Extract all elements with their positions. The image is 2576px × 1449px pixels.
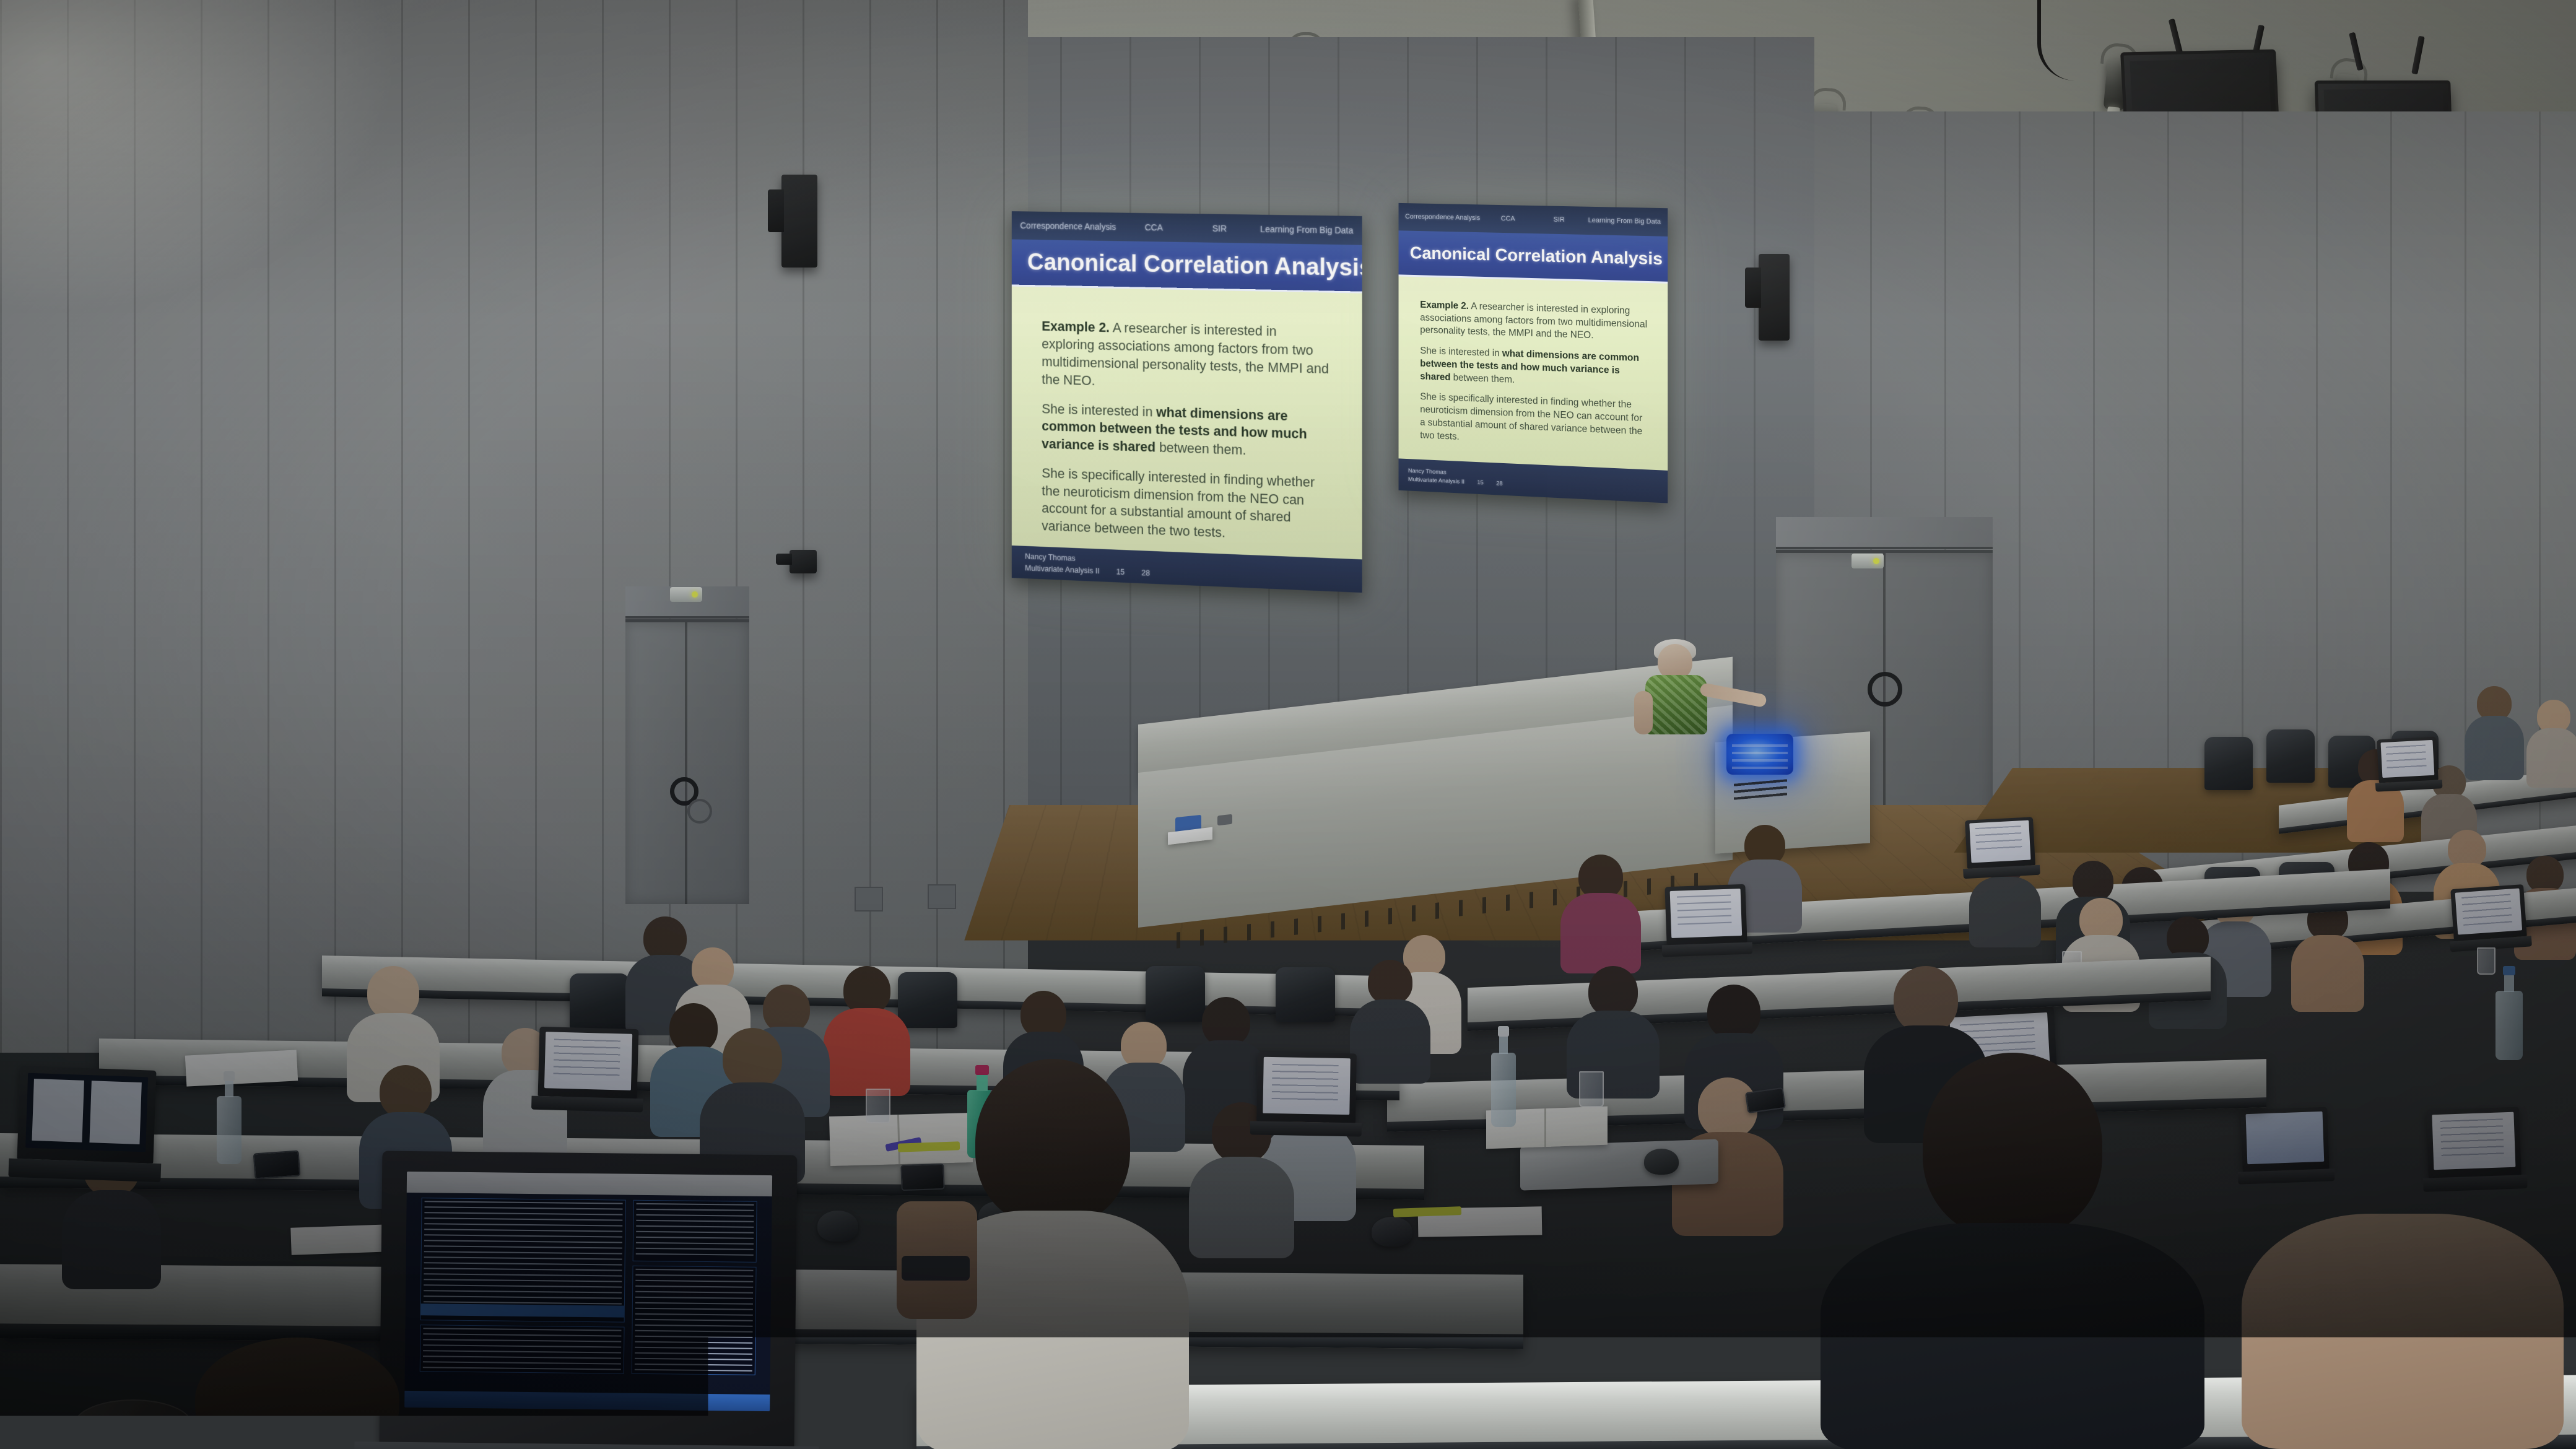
indicator-led bbox=[692, 591, 698, 598]
slide-footer-total: 28 bbox=[1141, 568, 1150, 578]
door-leaf-divider bbox=[685, 622, 687, 904]
water-bottle[interactable] bbox=[217, 1096, 241, 1164]
audience-person bbox=[1350, 960, 1430, 1084]
lecture-hall-photo: Correspondence Analysis CCA SIR Learning… bbox=[0, 0, 2576, 1449]
person-body bbox=[1350, 999, 1430, 1084]
notebook-spine bbox=[1544, 1108, 1546, 1147]
bottle-body bbox=[217, 1096, 241, 1164]
audience-laptop[interactable] bbox=[2426, 1107, 2522, 1178]
slide-header: Correspondence Analysis CCA SIR Learning… bbox=[1012, 211, 1362, 245]
slide-header-center: CCA bbox=[1145, 222, 1163, 232]
person-head bbox=[2448, 830, 2486, 868]
screen-pane-left bbox=[32, 1079, 84, 1142]
presenter bbox=[1632, 644, 1725, 743]
slide-titlebar: Canonical Correlation Analysis bbox=[1399, 230, 1668, 284]
person-body bbox=[2291, 935, 2364, 1012]
slide-paragraph-3: She is specifically interested in findin… bbox=[1420, 391, 1648, 452]
person-body bbox=[824, 1008, 910, 1096]
slide-example-label: Example 2. bbox=[1420, 300, 1469, 311]
window-light-glow bbox=[0, 0, 409, 322]
bottle-body bbox=[1491, 1053, 1516, 1127]
person-head bbox=[1923, 1053, 2102, 1238]
screen-text-lines bbox=[1975, 825, 2022, 855]
person-body bbox=[2526, 728, 2576, 788]
slide-paragraph-2: She is interested in what dimensions are… bbox=[1420, 345, 1648, 391]
slide-paragraph-1: Example 2. A researcher is interested in… bbox=[1420, 299, 1648, 345]
person-body bbox=[1969, 877, 2041, 947]
person-head bbox=[723, 1028, 782, 1089]
slide-body: Example 2. A researcher is interested in… bbox=[1012, 287, 1362, 560]
person-head bbox=[1368, 960, 1412, 1004]
wall-speaker bbox=[781, 175, 817, 268]
editor-pane-top-right bbox=[632, 1200, 757, 1263]
laptop-screen bbox=[25, 1073, 148, 1152]
notebook-spine bbox=[897, 1115, 900, 1164]
bottle-neck bbox=[225, 1080, 233, 1098]
code-lines bbox=[423, 1328, 622, 1371]
slide-header-left: Correspondence Analysis bbox=[1405, 213, 1480, 222]
laptop-screen bbox=[1669, 889, 1742, 938]
paper-sheet[interactable] bbox=[185, 1050, 298, 1086]
slide-paragraph-1: Example 2. A researcher is interested in… bbox=[1042, 318, 1334, 396]
drinking-glass[interactable] bbox=[866, 1089, 890, 1123]
laptop-screen bbox=[2432, 1112, 2515, 1170]
screen-text-lines bbox=[2386, 744, 2427, 770]
laptop-screen bbox=[1263, 1057, 1351, 1115]
wall-outlet bbox=[855, 887, 883, 912]
person-head bbox=[763, 985, 810, 1033]
door-ring-handle[interactable] bbox=[1868, 672, 1902, 707]
slide-title: Canonical Correlation Analysis bbox=[1410, 243, 1663, 269]
silver-laptop-closed[interactable] bbox=[1520, 1139, 1718, 1190]
person-head bbox=[380, 1065, 432, 1118]
laptop-screen bbox=[2246, 1112, 2324, 1164]
screen-text-lines bbox=[553, 1038, 620, 1078]
presenter-arm-left bbox=[1634, 691, 1653, 734]
slide-body: Example 2. A researcher is interested in… bbox=[1399, 276, 1668, 471]
paper-sheet[interactable] bbox=[290, 1224, 390, 1255]
audience-laptop[interactable] bbox=[2450, 884, 2527, 941]
bottle-body bbox=[2495, 991, 2523, 1060]
person-head bbox=[367, 966, 419, 1019]
wristwatch bbox=[902, 1256, 970, 1281]
audience-laptop[interactable] bbox=[2377, 737, 2439, 783]
audience-person bbox=[2291, 899, 2364, 1011]
drinking-glass[interactable] bbox=[2477, 947, 2495, 975]
foreground-person-right bbox=[1821, 1053, 2204, 1449]
audience-person bbox=[1560, 855, 1641, 972]
slide-titlebar: Canonical Correlation Analysis bbox=[1012, 239, 1362, 294]
person-head bbox=[843, 966, 890, 1014]
wall-speaker bbox=[1759, 254, 1790, 341]
audience-chair[interactable] bbox=[2204, 737, 2253, 790]
slide-example-label: Example 2. bbox=[1042, 319, 1110, 335]
slide-footer-course: Multivariate Analysis II bbox=[1025, 563, 1099, 575]
audience-chair[interactable] bbox=[570, 973, 629, 1029]
presenter-torso bbox=[1645, 675, 1707, 734]
projection-screen-right: Correspondence Analysis CCA SIR Learning… bbox=[1399, 203, 1668, 503]
editor-titlebar bbox=[407, 1172, 772, 1196]
projection-screen-left: Correspondence Analysis CCA SIR Learning… bbox=[1012, 211, 1362, 593]
door-left[interactable] bbox=[625, 619, 749, 904]
slide-right: Correspondence Analysis CCA SIR Learning… bbox=[1399, 203, 1668, 503]
panel-desk-small-object bbox=[1217, 814, 1232, 826]
bottle-neck bbox=[1499, 1035, 1508, 1054]
person-head bbox=[975, 1059, 1130, 1226]
audience-laptop[interactable] bbox=[1965, 817, 2035, 869]
emergency-light bbox=[670, 587, 702, 602]
wall-speaker-small bbox=[790, 550, 817, 573]
laptop-screen bbox=[544, 1032, 633, 1090]
audience-laptop[interactable] bbox=[2240, 1107, 2329, 1172]
bottle-neck bbox=[2504, 974, 2514, 992]
laptop-base bbox=[1662, 942, 1752, 957]
audience-laptop[interactable] bbox=[17, 1066, 156, 1164]
bottle-cap bbox=[224, 1071, 235, 1081]
slide-paragraph-2: She is interested in what dimensions are… bbox=[1042, 400, 1334, 463]
slide-left: Correspondence Analysis CCA SIR Learning… bbox=[1012, 211, 1362, 593]
laptop-screen bbox=[2455, 888, 2522, 934]
screen-text-lines bbox=[1271, 1064, 1338, 1103]
wall-outlet bbox=[928, 884, 956, 909]
person-head bbox=[1894, 966, 1958, 1033]
panel-desk bbox=[1138, 724, 1733, 935]
slide-header-center2: SIR bbox=[1212, 224, 1227, 233]
laptop-base bbox=[2423, 1175, 2528, 1192]
person-head bbox=[2073, 861, 2113, 902]
slide-title: Canonical Correlation Analysis bbox=[1027, 249, 1362, 282]
editor-selected-line bbox=[420, 1303, 624, 1317]
slide-header-center2: SIR bbox=[1554, 216, 1565, 224]
person-head bbox=[1202, 997, 1250, 1046]
code-editor-screen bbox=[404, 1172, 772, 1411]
bottle-cap bbox=[2503, 966, 2515, 976]
audience-person bbox=[824, 966, 910, 1096]
foreground-person-far-right bbox=[2242, 1214, 2564, 1449]
computer-mouse[interactable] bbox=[1644, 1149, 1679, 1175]
slide-footer-page: 15 bbox=[1116, 568, 1125, 577]
door-transom bbox=[1776, 517, 1993, 549]
person-body bbox=[2242, 1214, 2564, 1449]
person-body bbox=[1189, 1157, 1294, 1258]
water-bottle[interactable] bbox=[2495, 991, 2523, 1060]
person-body bbox=[62, 1190, 161, 1289]
slide-header-right: Learning From Big Data bbox=[1588, 217, 1661, 226]
slide-header-right: Learning From Big Data bbox=[1260, 224, 1353, 235]
slide-paragraph-3: She is specifically interested in findin… bbox=[1042, 464, 1334, 546]
person-head bbox=[2526, 856, 2564, 893]
person-head bbox=[1707, 985, 1760, 1039]
computer-mouse[interactable] bbox=[1372, 1217, 1412, 1247]
code-lines bbox=[423, 1201, 622, 1319]
screen-text-lines bbox=[1677, 894, 1732, 928]
bottle-cap bbox=[1498, 1026, 1509, 1037]
audience-chair[interactable] bbox=[2266, 729, 2315, 783]
smartphone[interactable] bbox=[253, 1150, 301, 1179]
led-glyphs bbox=[1732, 739, 1788, 769]
person-head bbox=[692, 947, 734, 990]
laptop-screen bbox=[2380, 740, 2434, 778]
led-display bbox=[1726, 734, 1793, 775]
emergency-light bbox=[1851, 554, 1884, 568]
audience-laptop[interactable] bbox=[1256, 1052, 1357, 1123]
screen-text-lines bbox=[2462, 894, 2513, 926]
computer-mouse[interactable] bbox=[817, 1211, 858, 1242]
audience-person bbox=[2526, 700, 2576, 786]
slide-header-left: Correspondence Analysis bbox=[1020, 220, 1116, 232]
person-body bbox=[1560, 893, 1641, 973]
code-lines bbox=[635, 1203, 754, 1260]
audience-chair[interactable] bbox=[1276, 967, 1335, 1022]
code-lines bbox=[635, 1269, 754, 1372]
laptop-screen bbox=[1969, 820, 2031, 863]
dark-bowl-object bbox=[74, 1399, 192, 1449]
wall-ring-fitting bbox=[687, 799, 712, 824]
slide-footer-page: 15 bbox=[1477, 479, 1483, 486]
person-head bbox=[195, 1338, 399, 1449]
slide-footer-total: 28 bbox=[1496, 480, 1502, 487]
person-body bbox=[1821, 1223, 2204, 1449]
laptop-base bbox=[2237, 1168, 2334, 1184]
person-head bbox=[1588, 966, 1638, 1017]
audience-laptop[interactable] bbox=[538, 1027, 639, 1099]
editor-pane-bottom-right bbox=[631, 1266, 756, 1375]
slide-header-center: CCA bbox=[1501, 215, 1515, 222]
water-bottle[interactable] bbox=[1491, 1053, 1516, 1127]
audience-laptop[interactable] bbox=[1664, 884, 1747, 945]
indicator-led bbox=[1873, 558, 1879, 564]
screen-pane-right bbox=[89, 1081, 142, 1144]
screen-text-lines bbox=[2440, 1119, 2504, 1159]
drinking-glass[interactable] bbox=[1579, 1071, 1604, 1107]
laptop-base bbox=[1250, 1121, 1362, 1137]
person-head bbox=[1020, 991, 1066, 1038]
slide-footer-course: Multivariate Analysis II bbox=[1408, 476, 1464, 485]
